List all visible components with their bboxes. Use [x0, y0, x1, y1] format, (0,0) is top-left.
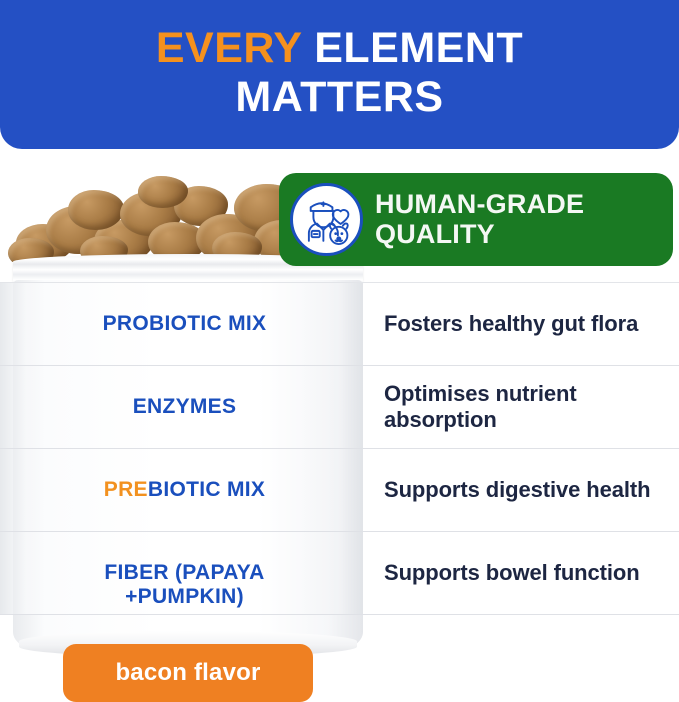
ingredient-name-rest: FIBER (PAPAYA +PUMPKIN) — [104, 561, 264, 608]
rows-bottom-divider — [0, 614, 679, 615]
ingredient-name-rest: PROBIOTIC MIX — [103, 312, 267, 335]
ingredient-benefit-cell: Supports bowel function — [363, 532, 679, 614]
ingredient-name-cell: ENZYMES — [0, 366, 363, 448]
ingredient-row: FIBER (PAPAYA +PUMPKIN) Supports bowel f… — [0, 531, 679, 614]
header-title-line-1: EVERY ELEMENT — [156, 24, 523, 72]
ingredient-benefit: Supports digestive health — [384, 477, 650, 503]
ingredient-row: PREBIOTIC MIX Supports digestive health — [0, 448, 679, 531]
ingredient-benefit: Supports bowel function — [384, 560, 640, 586]
header-accent-word: EVERY — [156, 24, 302, 72]
ingredient-benefit: Fosters healthy gut flora — [384, 311, 638, 337]
flavor-tab: bacon flavor — [63, 644, 313, 702]
human-grade-quality-badge: HUMAN-GRADE QUALITY — [279, 173, 673, 266]
ingredient-benefit: Optimises nutrient absorption — [384, 381, 671, 433]
ingredient-row: PROBIOTIC MIX Fosters healthy gut flora — [0, 282, 679, 365]
ingredient-name-cell: PREBIOTIC MIX — [0, 449, 363, 531]
ingredient-rows: PROBIOTIC MIX Fosters healthy gut flora … — [0, 282, 679, 614]
ingredient-name: ENZYMES — [133, 395, 237, 419]
ingredient-name: FIBER (PAPAYA +PUMPKIN) — [104, 536, 264, 609]
ingredient-benefit-cell: Fosters healthy gut flora — [363, 283, 679, 365]
ingredient-name-cell: PROBIOTIC MIX — [0, 283, 363, 365]
ingredient-name-rest: ENZYMES — [133, 395, 237, 418]
quality-badge-line-2: QUALITY — [375, 220, 584, 250]
ingredient-row: ENZYMES Optimises nutrient absorption — [0, 365, 679, 448]
quality-badge-text: HUMAN-GRADE QUALITY — [375, 190, 584, 249]
quality-badge-line-1: HUMAN-GRADE — [375, 190, 584, 220]
ingredient-benefit-cell: Optimises nutrient absorption — [363, 366, 679, 448]
header-banner: EVERY ELEMENT MATTERS — [0, 0, 679, 149]
ingredient-name-cell: FIBER (PAPAYA +PUMPKIN) — [0, 532, 363, 614]
flavor-label: bacon flavor — [115, 659, 260, 687]
ingredient-name-rest: BIOTIC MIX — [148, 478, 265, 501]
ingredient-name-accent: PRE — [104, 478, 148, 501]
header-rest-word: ELEMENT — [302, 24, 523, 72]
ingredient-name: PROBIOTIC MIX — [103, 312, 267, 336]
vet-doctor-heart-dog-icon — [290, 183, 363, 256]
header-title-line-2: MATTERS — [235, 73, 443, 121]
ingredient-name: PREBIOTIC MIX — [104, 478, 265, 502]
ingredient-benefit-cell: Supports digestive health — [363, 449, 679, 531]
